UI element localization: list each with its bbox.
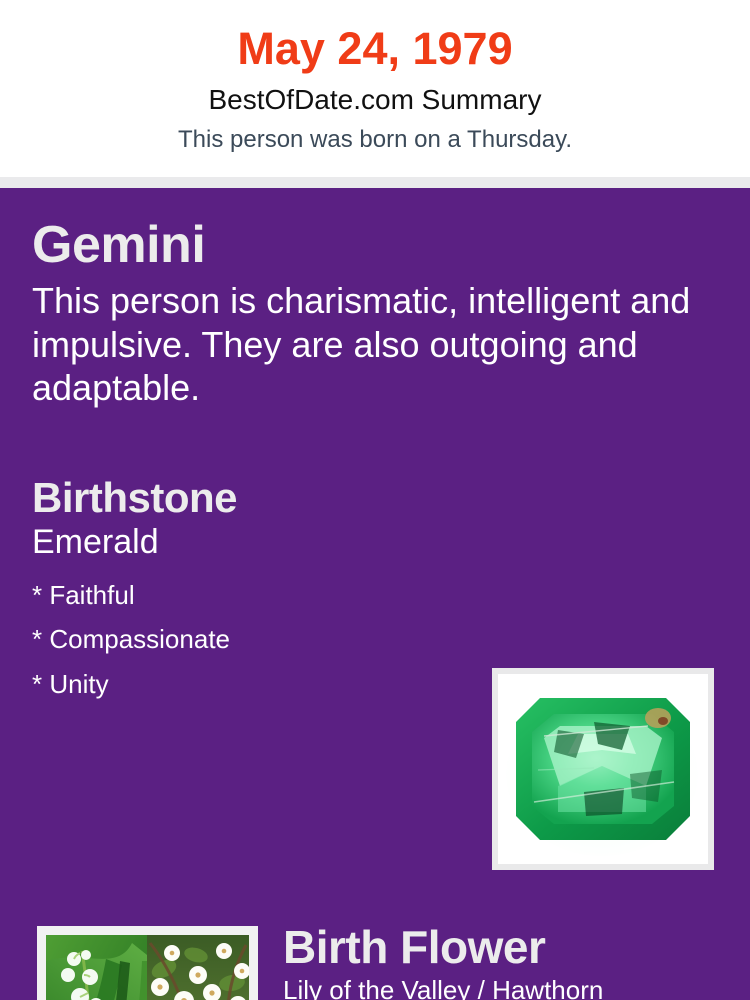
zodiac-sign-name: Gemini xyxy=(32,218,718,273)
birth-flower-name: Lily of the Valley / Hawthorn xyxy=(283,975,733,1000)
page-title: May 24, 1979 xyxy=(0,24,750,74)
zodiac-description: This person is charismatic, intelligent … xyxy=(32,279,704,411)
born-day-label: This person was born on a Thursday. xyxy=(0,124,750,155)
birthstone-image-frame xyxy=(492,668,714,870)
birthstone-heading: Birthstone xyxy=(32,476,472,521)
summary-panel: Gemini This person is charismatic, intel… xyxy=(0,188,750,1000)
page-header: May 24, 1979 BestOfDate.com Summary This… xyxy=(0,0,750,177)
zodiac-section: Gemini This person is charismatic, intel… xyxy=(0,188,750,410)
birth-flower-image-frame xyxy=(37,926,258,1000)
birth-flower-heading: Birth Flower xyxy=(283,923,733,972)
list-item: * Unity xyxy=(32,662,472,707)
header-divider xyxy=(0,177,750,188)
birth-flower-section: Birth Flower Lily of the Valley / Hawtho… xyxy=(283,923,733,1000)
birthstone-name: Emerald xyxy=(32,522,472,562)
list-item: * Faithful xyxy=(32,573,472,618)
emerald-gemstone-image xyxy=(498,674,708,864)
birthstone-trait-list: * Faithful * Compassionate * Unity xyxy=(32,573,472,707)
site-summary-label: BestOfDate.com Summary xyxy=(0,80,750,121)
birthstone-section: Birthstone Emerald * Faithful * Compassi… xyxy=(32,476,472,707)
list-item: * Compassionate xyxy=(32,617,472,662)
birth-flower-image xyxy=(46,935,249,1000)
